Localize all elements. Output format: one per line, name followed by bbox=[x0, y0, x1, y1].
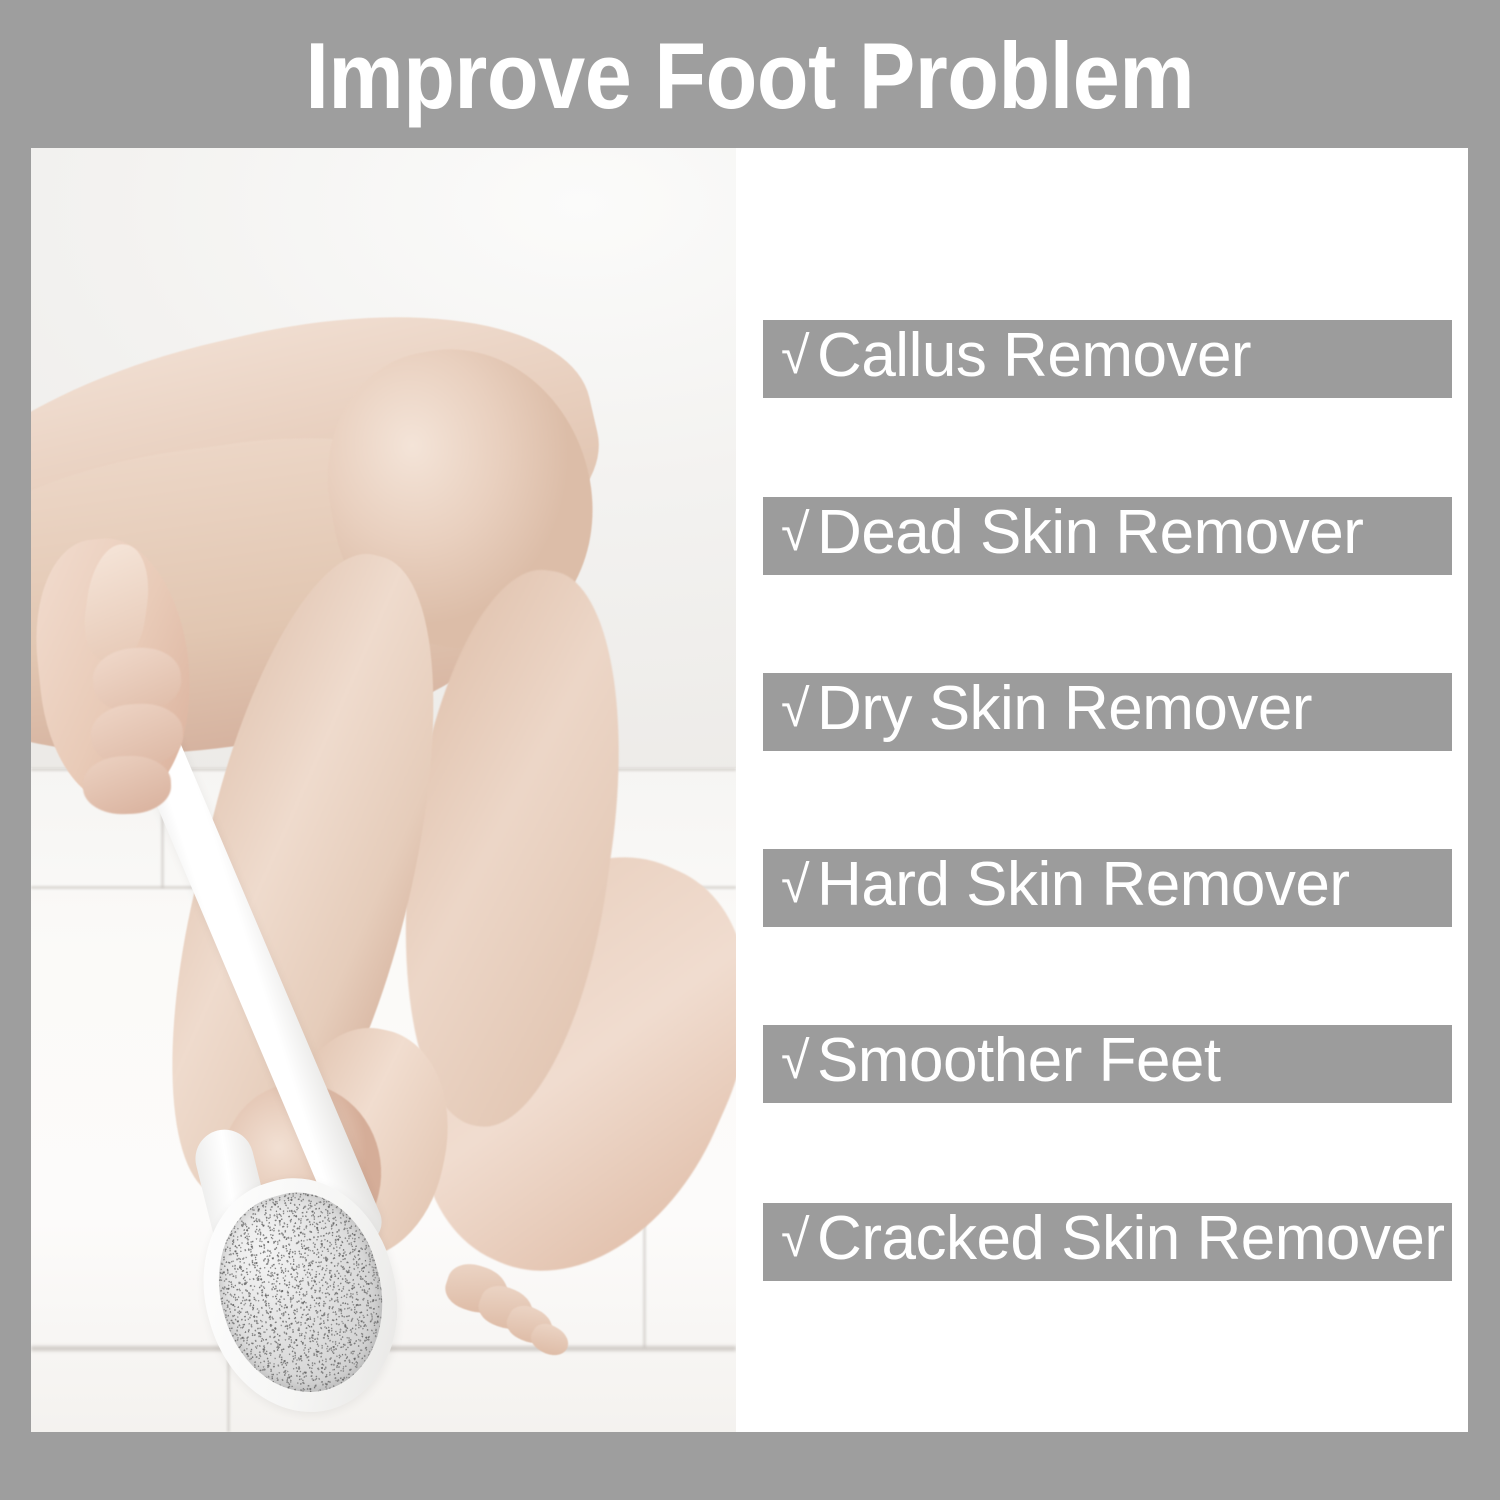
feature-text: Dry Skin Remover bbox=[817, 674, 1312, 743]
feature-label: √Smoother Feet bbox=[763, 1022, 1221, 1103]
feature-bar-dry-skin-remover[interactable]: √Dry Skin Remover bbox=[763, 673, 1452, 751]
feature-bar-callus-remover[interactable]: √Callus Remover bbox=[763, 320, 1452, 398]
header-band: Improve Foot Problem bbox=[0, 0, 1500, 148]
feature-bar-smoother-feet[interactable]: √Smoother Feet bbox=[763, 1025, 1452, 1103]
feature-bar-hard-skin-remover[interactable]: √Hard Skin Remover bbox=[763, 849, 1452, 927]
feature-list: √Callus Remover √Dead Skin Remover √Dry … bbox=[763, 148, 1468, 1432]
feature-text: Callus Remover bbox=[817, 321, 1251, 390]
feature-label: √Dead Skin Remover bbox=[763, 494, 1363, 575]
product-photo bbox=[31, 148, 736, 1432]
feature-label: √Hard Skin Remover bbox=[763, 846, 1350, 927]
feature-text: Cracked Skin Remover bbox=[817, 1204, 1444, 1273]
check-icon: √ bbox=[781, 1022, 817, 1100]
check-icon: √ bbox=[781, 494, 817, 572]
feature-bar-dead-skin-remover[interactable]: √Dead Skin Remover bbox=[763, 497, 1452, 575]
check-icon: √ bbox=[781, 670, 817, 748]
feature-label: √Dry Skin Remover bbox=[763, 670, 1312, 751]
check-icon: √ bbox=[781, 1200, 817, 1278]
feature-text: Dead Skin Remover bbox=[817, 498, 1363, 567]
feature-text: Smoother Feet bbox=[817, 1026, 1221, 1095]
page-title: Improve Foot Problem bbox=[306, 29, 1195, 123]
feature-label: √Cracked Skin Remover bbox=[763, 1200, 1444, 1281]
content-card: √Callus Remover √Dead Skin Remover √Dry … bbox=[31, 148, 1468, 1432]
feature-label: √Callus Remover bbox=[763, 317, 1251, 398]
feature-text: Hard Skin Remover bbox=[817, 850, 1349, 919]
check-icon: √ bbox=[781, 846, 817, 924]
product-feature-infographic: Improve Foot Problem bbox=[0, 0, 1500, 1500]
feature-bar-cracked-skin-remover[interactable]: √Cracked Skin Remover bbox=[763, 1203, 1452, 1281]
check-icon: √ bbox=[781, 317, 817, 395]
